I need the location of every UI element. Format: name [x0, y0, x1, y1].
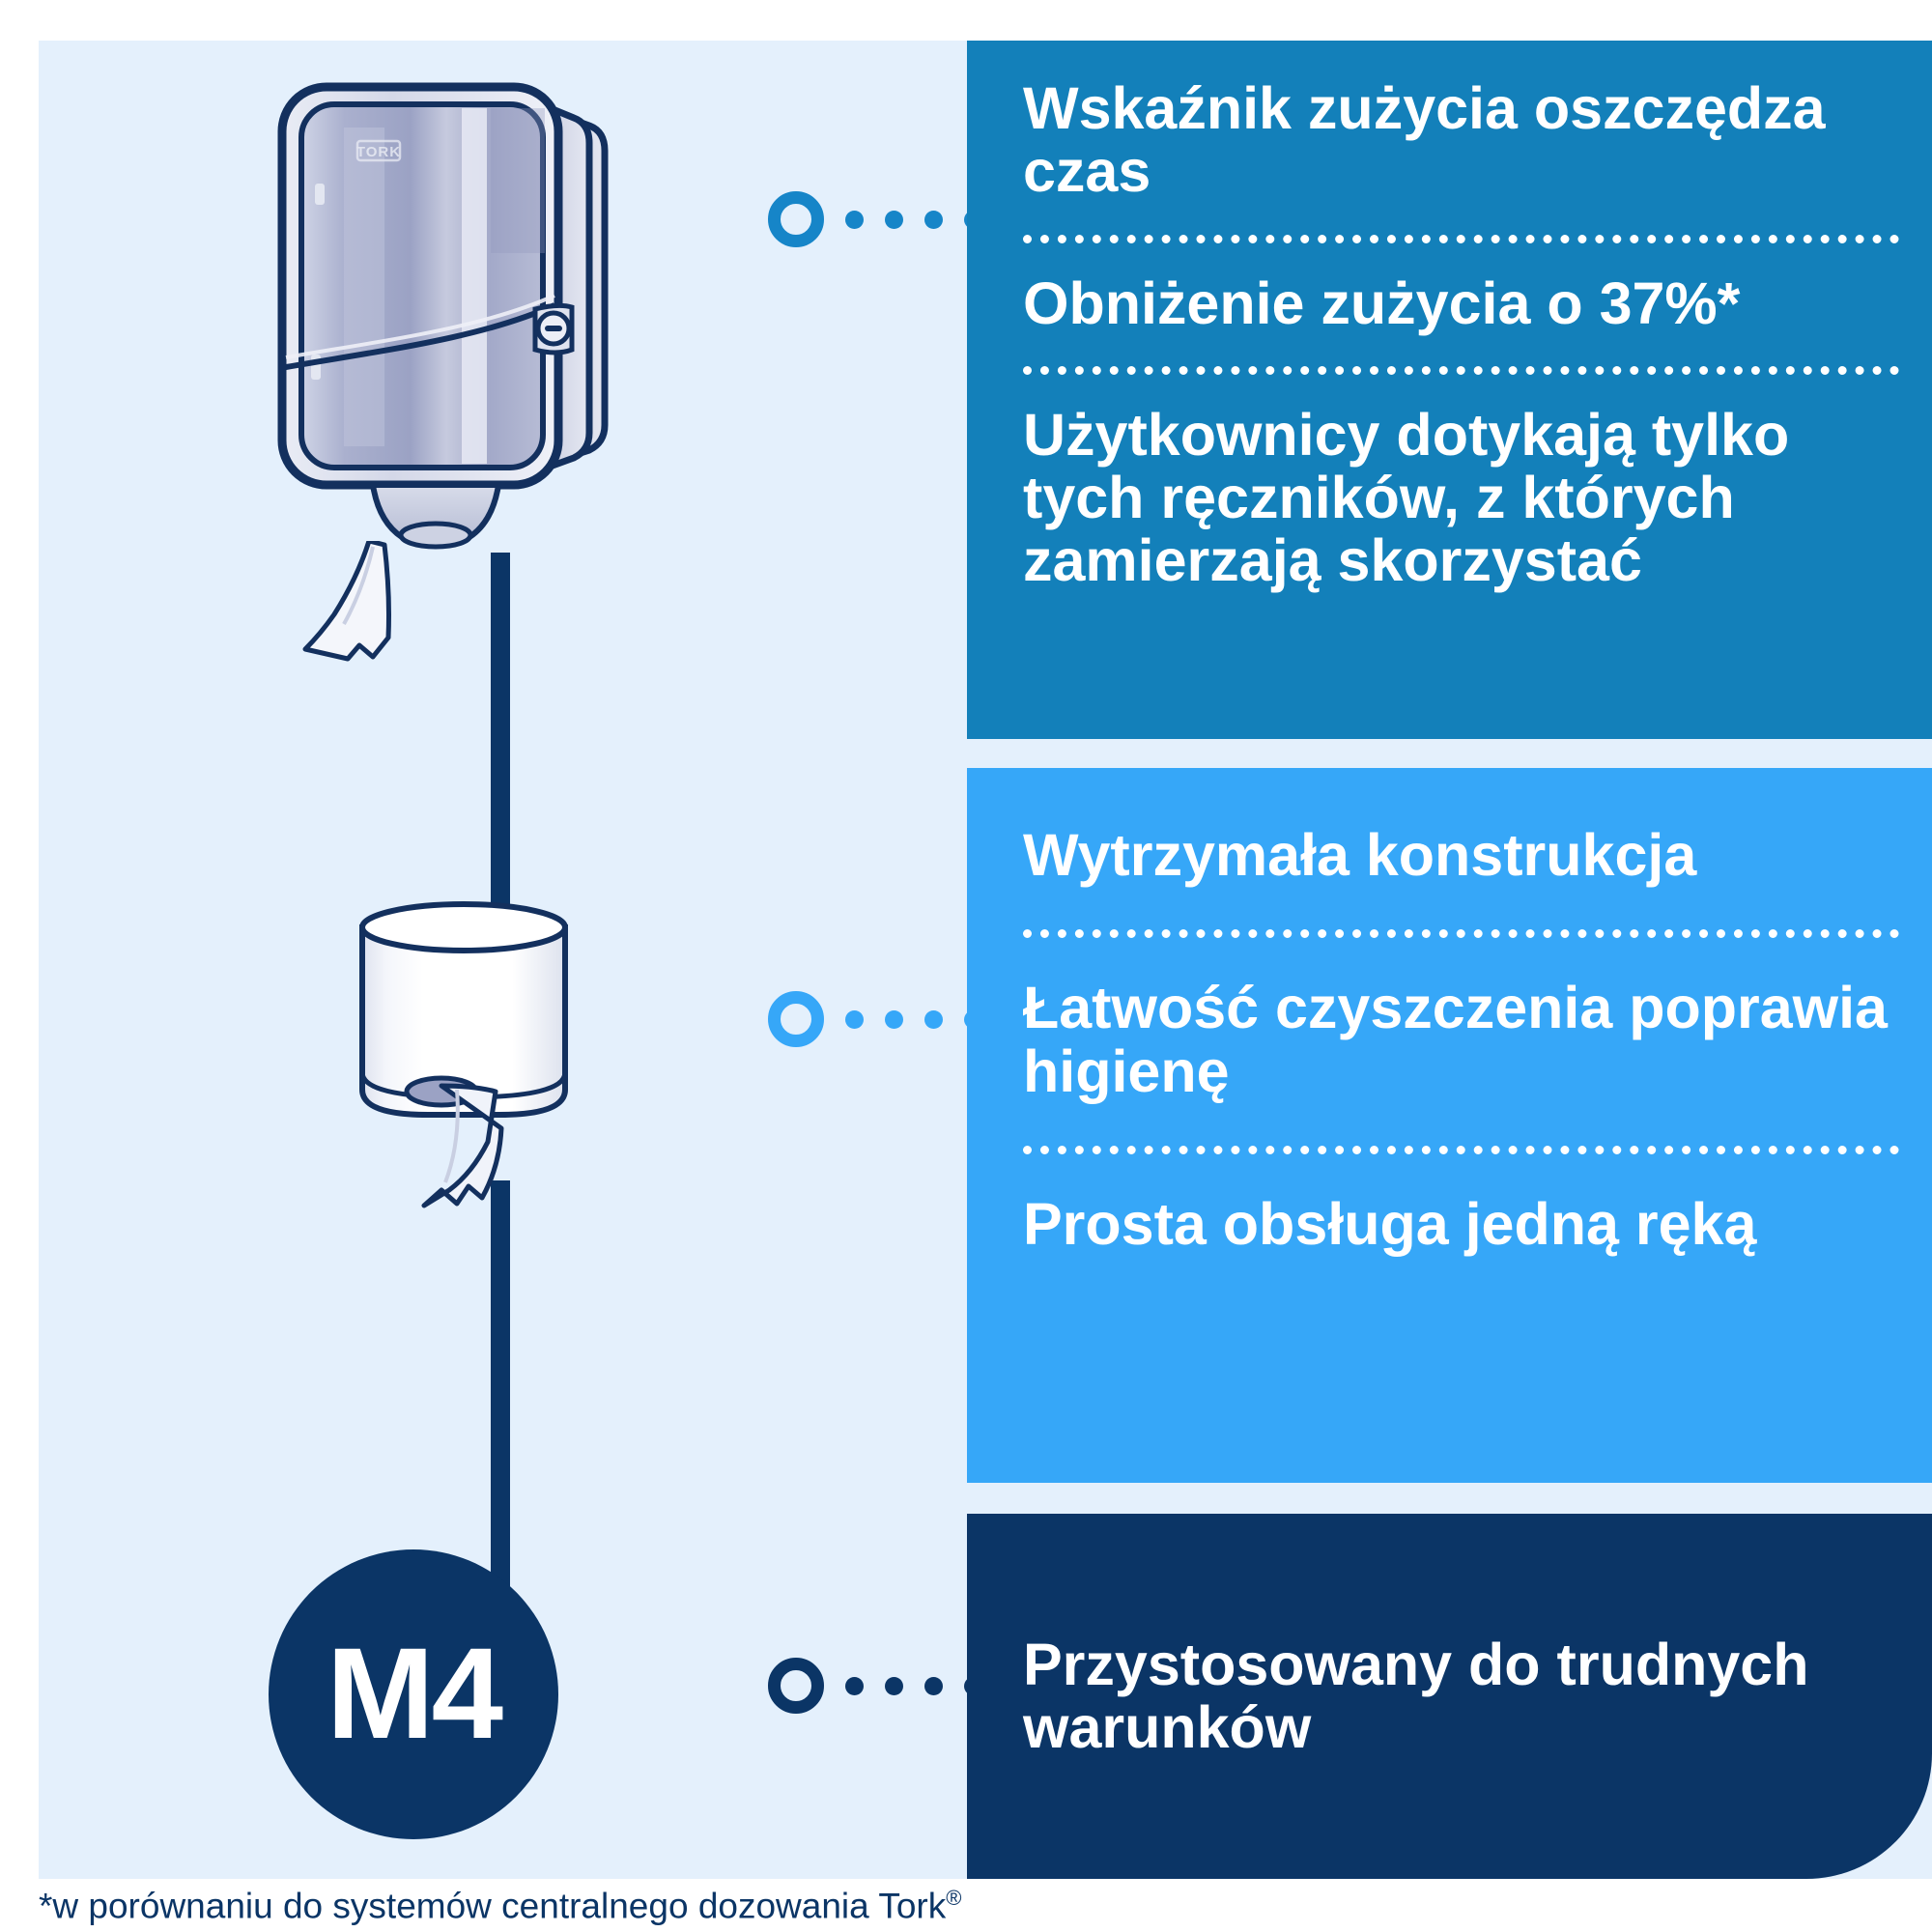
paper-roll-illustration	[353, 900, 575, 1209]
connector-dot	[924, 1010, 943, 1029]
feature-text: Przystosowany do trudnych warunków	[1023, 1634, 1899, 1760]
feature-panel-conditions: Przystosowany do trudnych warunków	[967, 1514, 1932, 1879]
m4-badge-label: M4	[327, 1630, 500, 1759]
connector-panel-3	[768, 1658, 982, 1714]
connector-dot	[885, 1677, 903, 1695]
connector-ring-icon	[768, 1658, 824, 1714]
connector-dots	[845, 1677, 982, 1695]
connector-dots	[845, 211, 982, 229]
feature-text: Łatwość czyszczenia poprawia higienę	[1023, 977, 1899, 1103]
feature-divider	[1023, 366, 1899, 375]
lock-icon	[535, 305, 572, 353]
feature-panel-efficiency: Wskaźnik zużycia oszczędza czas Obniżeni…	[967, 41, 1932, 739]
feature-divider	[1023, 1146, 1899, 1154]
footnote-text: *w porównaniu do systemów centralnego do…	[39, 1886, 946, 1925]
illustration-column: TORK	[39, 41, 966, 1879]
spine-segment-bottom	[491, 1180, 510, 1615]
connector-ring-icon	[768, 991, 824, 1047]
connector-dot	[885, 1010, 903, 1029]
tork-logo: TORK	[356, 141, 401, 160]
feature-divider	[1023, 929, 1899, 938]
m4-badge: M4	[269, 1549, 558, 1839]
feature-text: Wytrzymała konstrukcja	[1023, 824, 1899, 887]
infographic-root: TORK	[0, 0, 1932, 1932]
footnote: *w porównaniu do systemów centralnego do…	[39, 1886, 1488, 1926]
connector-panel-2	[768, 991, 982, 1047]
connector-ring-icon	[768, 191, 824, 247]
svg-text:TORK: TORK	[356, 144, 401, 160]
paper-roll-icon	[353, 900, 575, 1209]
dispenser-icon: TORK	[251, 60, 657, 562]
dispenser-illustration: TORK	[251, 60, 657, 562]
connector-dot	[885, 211, 903, 229]
connector-dot	[924, 1677, 943, 1695]
connector-dot	[845, 211, 864, 229]
feature-text: Prosta obsługa jedną ręką	[1023, 1193, 1899, 1256]
feature-text: Użytkownicy dotykają tylko tych ręcznikó…	[1023, 404, 1899, 593]
connector-panel-1	[768, 191, 982, 247]
connector-dot	[924, 211, 943, 229]
registered-mark: ®	[946, 1886, 961, 1910]
feature-divider	[1023, 235, 1899, 243]
paper-tail-dispenser	[288, 541, 471, 676]
connector-dot	[845, 1677, 864, 1695]
feature-panel-durability: Wytrzymała konstrukcja Łatwość czyszczen…	[967, 768, 1932, 1483]
connector-dots	[845, 1010, 982, 1029]
connector-dot	[845, 1010, 864, 1029]
feature-text: Wskaźnik zużycia oszczędza czas	[1023, 77, 1899, 204]
feature-text: Obniżenie zużycia o 37%*	[1023, 272, 1899, 335]
